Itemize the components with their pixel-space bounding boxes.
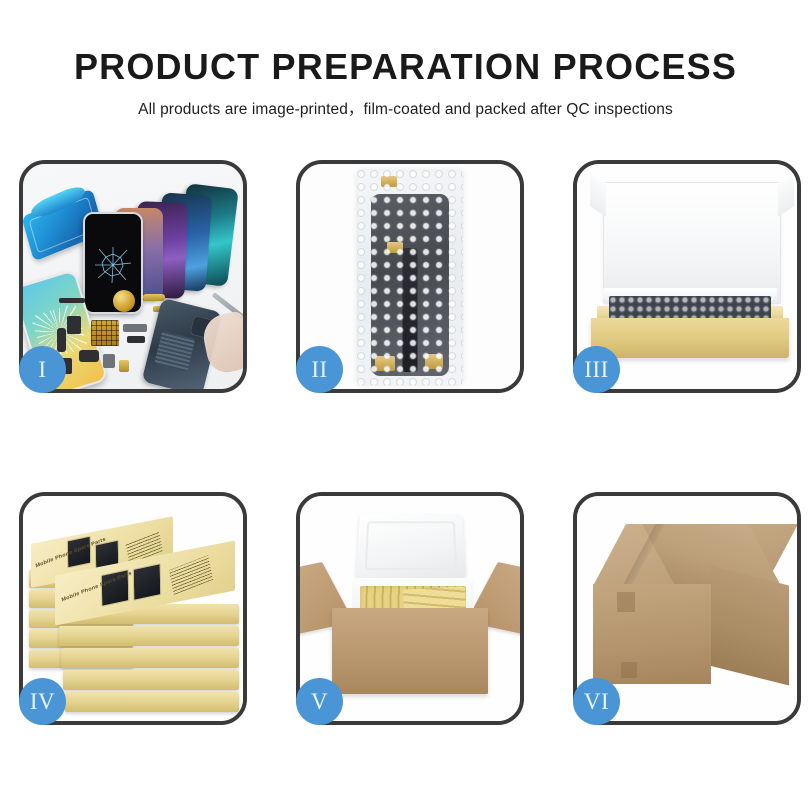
- step-panel-2: II: [296, 160, 524, 393]
- tape-tab-bottom-left: [375, 356, 395, 371]
- box-edge-R5: [65, 692, 239, 712]
- part-gold-contact: [119, 360, 129, 372]
- speaker-coil-icon: [113, 290, 135, 312]
- carton-body-icon: [332, 608, 488, 694]
- box-edge-R3: [61, 648, 239, 668]
- tape-tab-mid: [387, 242, 403, 253]
- carton-front-face: [593, 584, 711, 684]
- part-module-1: [103, 354, 115, 368]
- retail-box-stack: Mobile Phone Spare Parts Mobile Phone Sp…: [29, 518, 241, 710]
- yellow-tray-group: [591, 296, 789, 358]
- tape-tab-bottom-right: [425, 354, 443, 369]
- box-window-front-2: [133, 563, 162, 601]
- page-subtitle: All products are image-printed，film-coat…: [0, 86, 811, 119]
- wrapped-flex-cable-icon: [403, 248, 418, 372]
- white-box-lid-icon: [603, 182, 781, 304]
- box-edge-R2: [59, 626, 239, 646]
- step-badge-1: I: [19, 346, 66, 393]
- part-connector-1: [59, 298, 85, 303]
- process-steps-grid: I II: [19, 160, 792, 725]
- step-panel-5: V: [296, 492, 524, 725]
- part-flex-gold-1: [143, 294, 165, 301]
- step-badge-5: V: [296, 678, 343, 725]
- carton-tape-lower: [621, 662, 637, 678]
- step-badge-4: IV: [19, 678, 66, 725]
- part-camera-1: [79, 350, 99, 362]
- foam-lid-icon: [356, 514, 466, 578]
- step-panel-3: III: [573, 160, 801, 393]
- step-badge-3: III: [573, 346, 620, 393]
- product-preparation-infographic: PRODUCT PREPARATION PROCESS All products…: [0, 0, 811, 811]
- phone-notch-icon: [104, 216, 122, 220]
- tape-tab-top: [381, 176, 397, 187]
- page-title: PRODUCT PREPARATION PROCESS: [0, 0, 811, 86]
- yellow-box-base-icon: [591, 318, 789, 358]
- step-badge-2: II: [296, 346, 343, 393]
- step-panel-4: Mobile Phone Spare Parts Mobile Phone Sp…: [19, 492, 247, 725]
- part-bracket-1: [123, 324, 147, 332]
- part-bracket-2: [127, 336, 145, 343]
- battery-icon: [154, 331, 195, 372]
- bubble-wrap-bag-icon: [357, 170, 463, 385]
- header: PRODUCT PREPARATION PROCESS All products…: [0, 0, 811, 119]
- part-flex-cable-1: [57, 328, 66, 352]
- step-badge-6: VI: [573, 678, 620, 725]
- chip-array-icon: [91, 320, 119, 346]
- cracked-screen-icon: [93, 245, 133, 285]
- part-button-1: [67, 316, 81, 334]
- step-panel-6: VI: [573, 492, 801, 725]
- box-edge-R4: [63, 670, 239, 690]
- step-panel-1: I: [19, 160, 247, 393]
- carton-side-face: [711, 566, 789, 685]
- carton-tape-upper: [617, 592, 635, 612]
